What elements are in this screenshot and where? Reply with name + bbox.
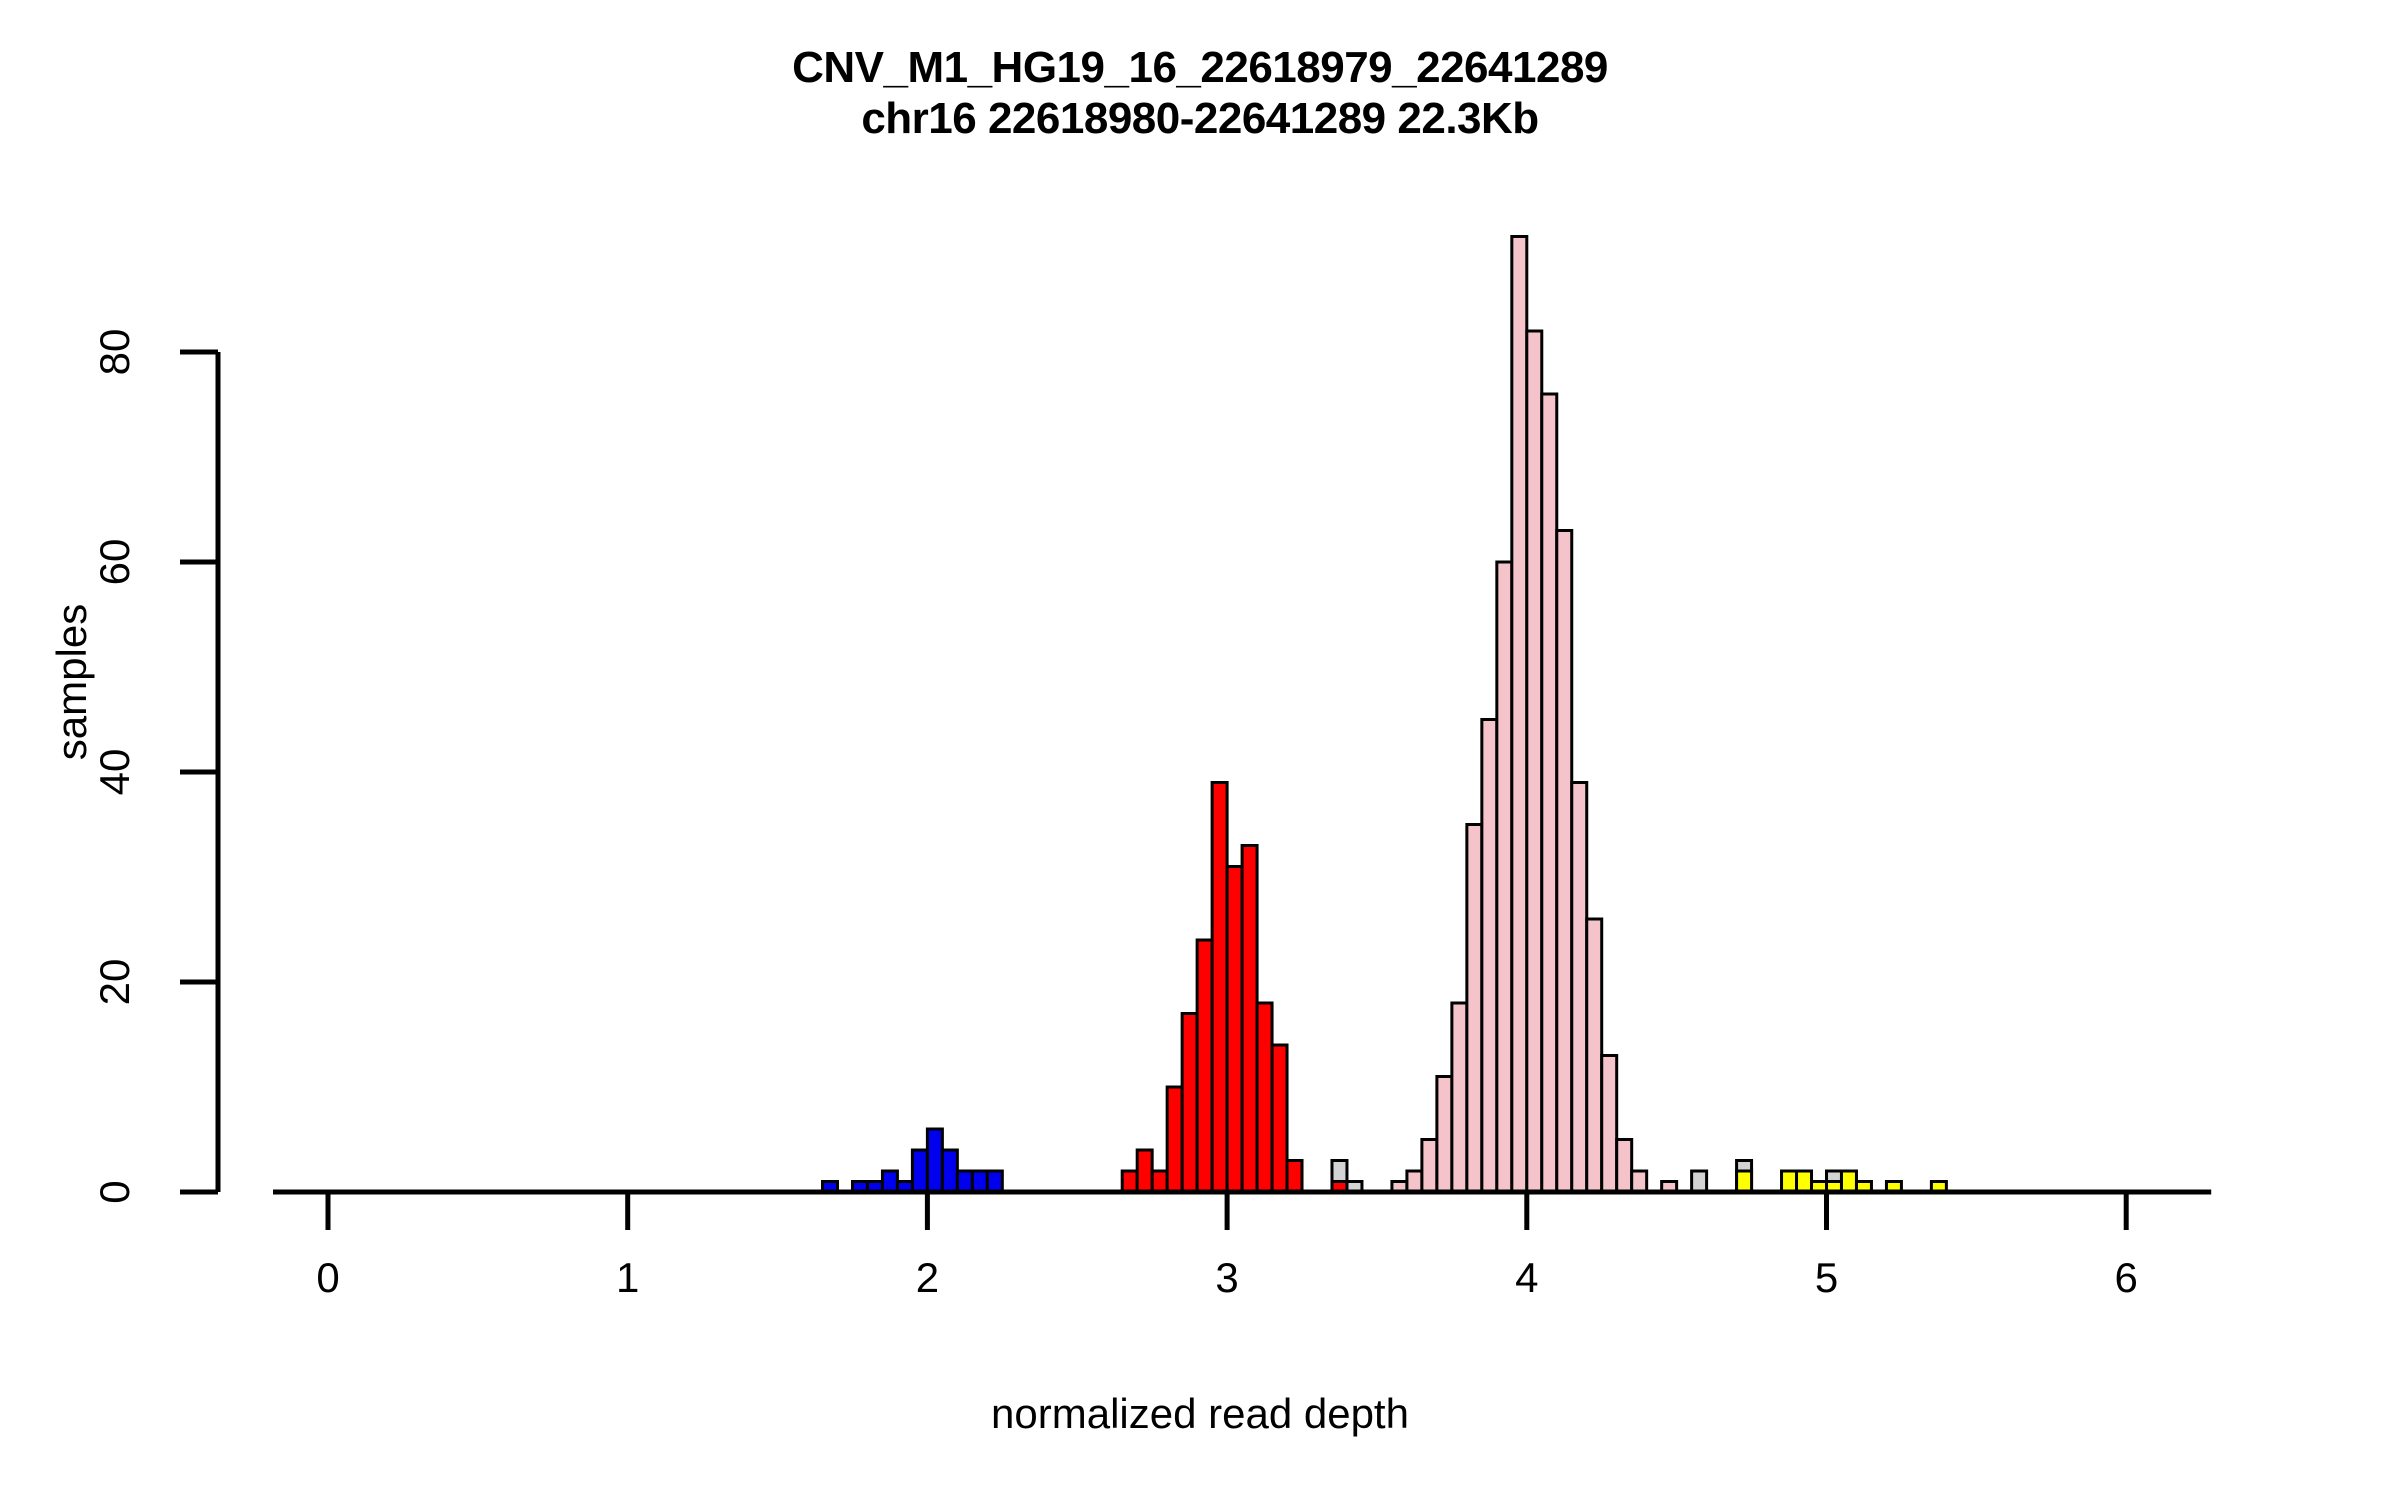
x-tick-label: 4 xyxy=(1487,1254,1567,1302)
histogram-bar xyxy=(1692,1171,1707,1192)
histogram-bar xyxy=(1542,394,1557,1192)
y-tick-label: 20 xyxy=(91,937,139,1027)
x-tick-label: 0 xyxy=(288,1254,368,1302)
histogram-bar xyxy=(1467,825,1482,1193)
histogram-bar xyxy=(1422,1140,1437,1193)
histogram-bar xyxy=(912,1150,927,1192)
histogram-bar xyxy=(987,1171,1002,1192)
x-tick-label: 2 xyxy=(887,1254,967,1302)
histogram-bar xyxy=(1632,1171,1647,1192)
histogram-bar xyxy=(1602,1056,1617,1193)
y-tick-label: 80 xyxy=(91,307,139,397)
histogram-bar xyxy=(1212,783,1227,1193)
histogram-bar xyxy=(1272,1045,1287,1192)
histogram-bar xyxy=(1167,1087,1182,1192)
histogram-bar xyxy=(957,1171,972,1192)
histogram-bar xyxy=(927,1129,942,1192)
histogram-bar xyxy=(1287,1161,1302,1193)
histogram-bar xyxy=(942,1150,957,1192)
histogram-bar xyxy=(1782,1171,1797,1192)
histogram-bars xyxy=(823,237,1947,1193)
histogram-bar xyxy=(1182,1014,1197,1193)
histogram-bar xyxy=(1452,1003,1467,1192)
histogram-bar xyxy=(1122,1171,1137,1192)
histogram-bar xyxy=(1197,940,1212,1192)
histogram-bar xyxy=(1407,1171,1422,1192)
histogram-bar xyxy=(972,1171,987,1192)
histogram-bar xyxy=(1227,867,1242,1193)
histogram-bar xyxy=(882,1171,897,1192)
y-tick-label: 0 xyxy=(91,1147,139,1237)
histogram-bar xyxy=(1482,720,1497,1193)
histogram-bar xyxy=(1572,783,1587,1193)
histogram-bar xyxy=(1497,562,1512,1192)
histogram-bar xyxy=(1841,1171,1856,1192)
histogram-bar xyxy=(1242,846,1257,1193)
y-axis-label: samples xyxy=(48,532,96,832)
histogram-bar xyxy=(1437,1077,1452,1193)
histogram-bar xyxy=(1557,531,1572,1193)
histogram-bar xyxy=(1737,1171,1752,1192)
chart-canvas: CNV_M1_HG19_16_22618979_22641289 chr16 2… xyxy=(0,0,2400,1500)
histogram-bar xyxy=(1797,1171,1812,1192)
x-tick-label: 6 xyxy=(2086,1254,2166,1302)
histogram-bar xyxy=(1257,1003,1272,1192)
histogram-bar xyxy=(1587,919,1602,1192)
histogram-bar xyxy=(1152,1171,1167,1192)
histogram-bar xyxy=(1617,1140,1632,1193)
histogram-bar xyxy=(1527,331,1542,1192)
histogram-bar xyxy=(1512,237,1527,1193)
x-tick-label: 3 xyxy=(1187,1254,1267,1302)
y-tick-label: 60 xyxy=(91,517,139,607)
x-tick-label: 5 xyxy=(1787,1254,1867,1302)
x-axis-label: normalized read depth xyxy=(0,1390,2400,1438)
x-tick-label: 1 xyxy=(588,1254,668,1302)
y-tick-label: 40 xyxy=(91,727,139,817)
histogram-bar xyxy=(1137,1150,1152,1192)
